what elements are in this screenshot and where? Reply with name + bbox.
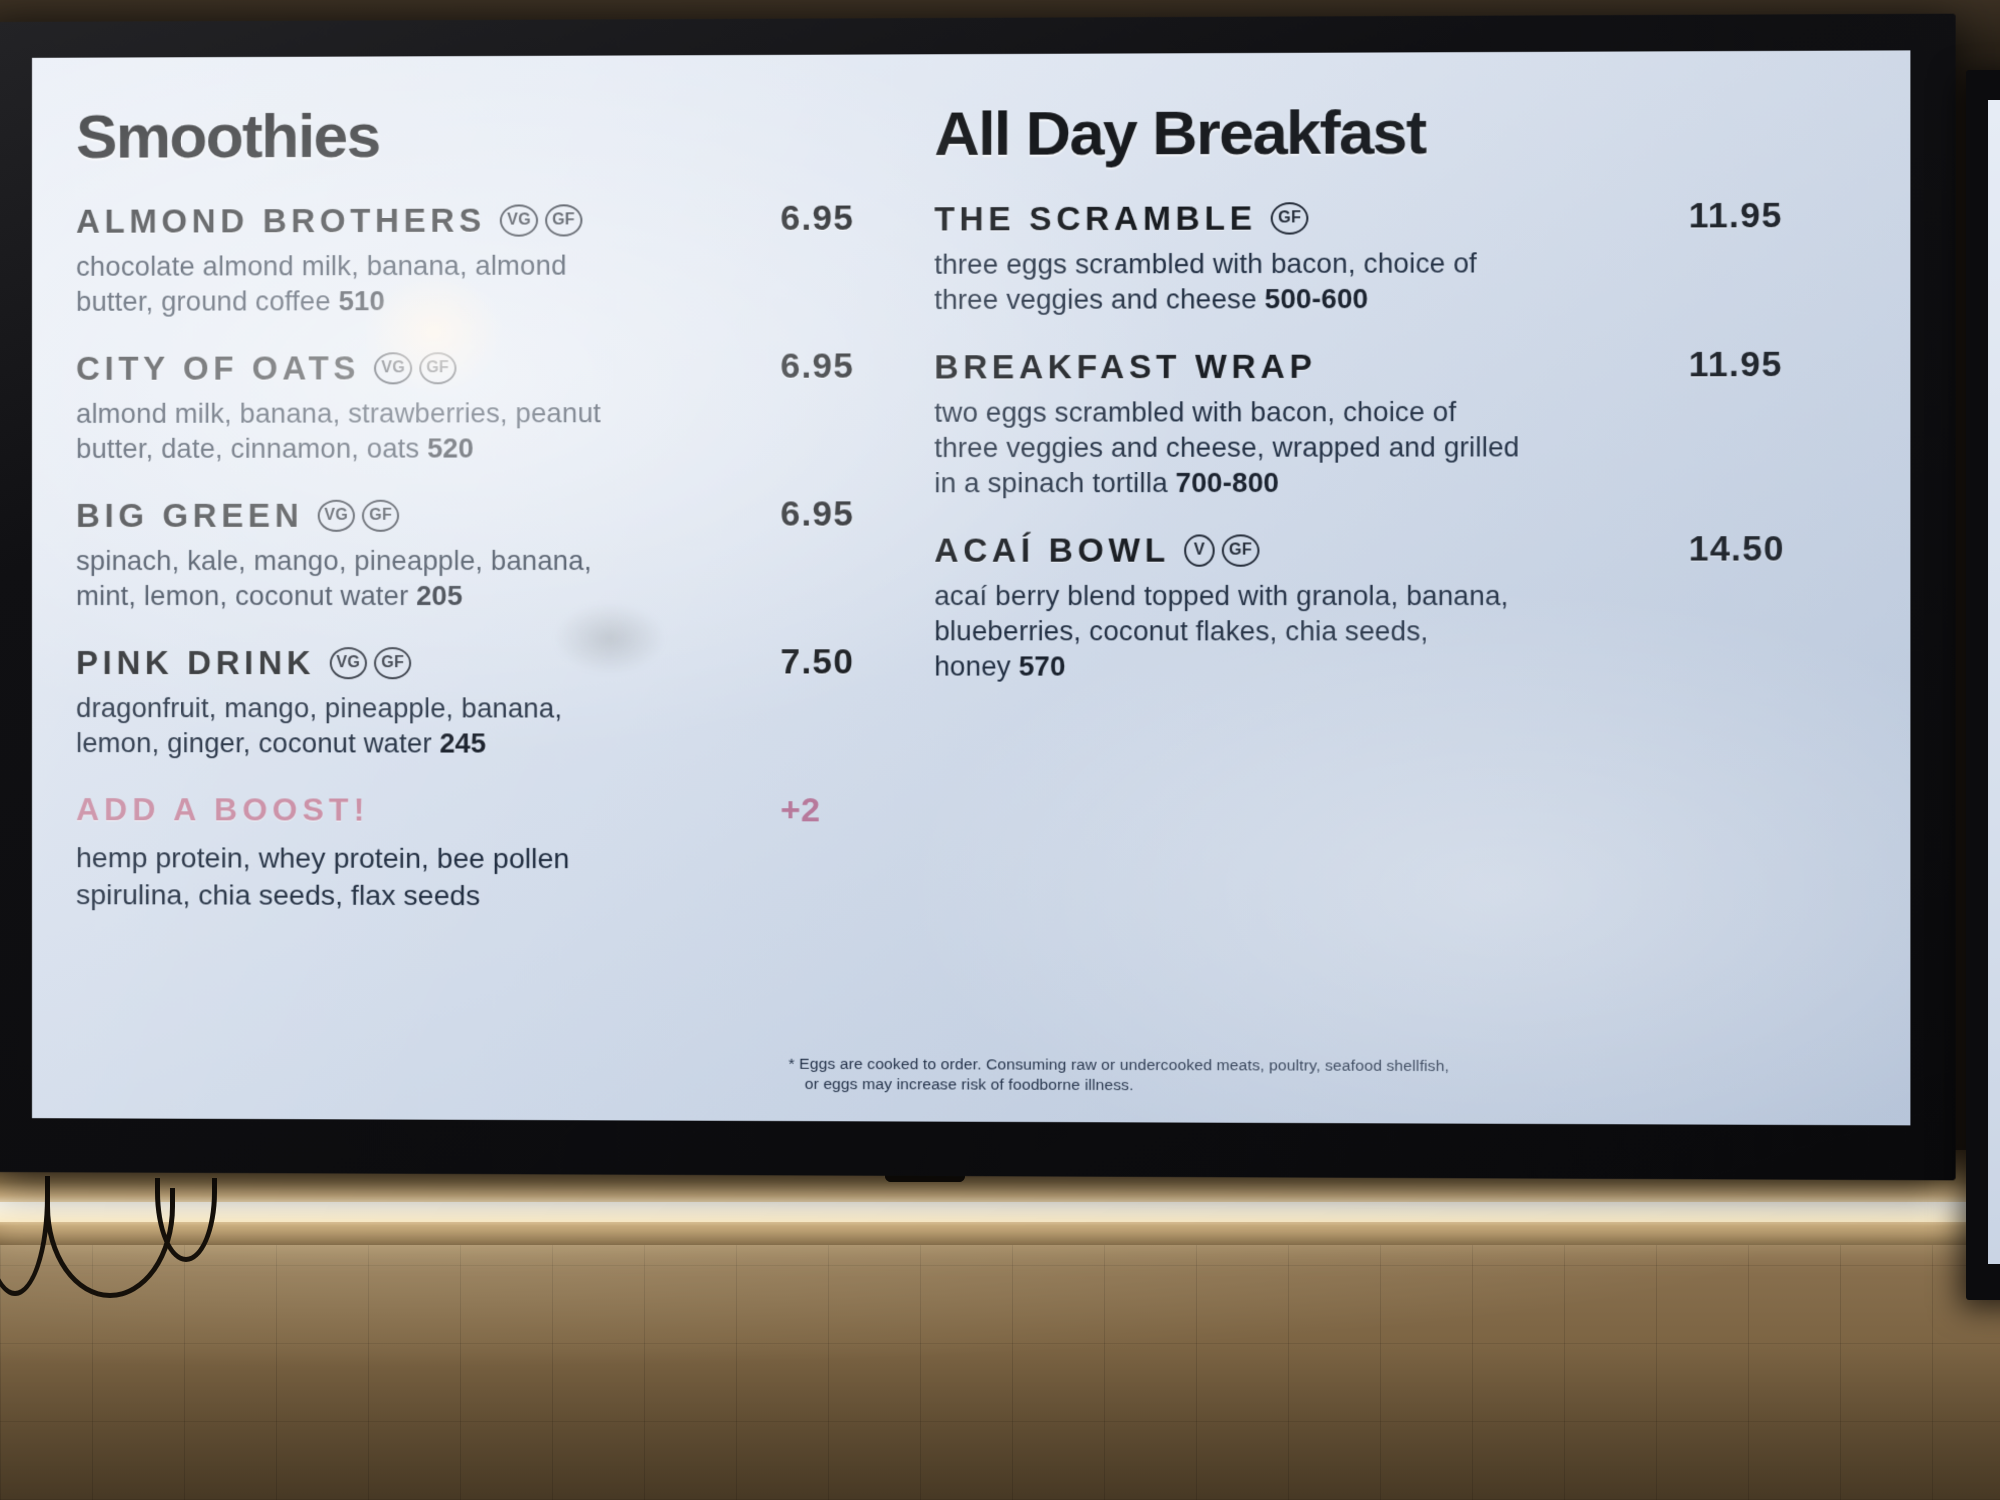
secondary-screen-surface bbox=[1988, 100, 2000, 1264]
calorie-count: 510 bbox=[338, 285, 384, 316]
desc-line: two eggs scrambled with bacon, choice of bbox=[934, 395, 1668, 431]
item-price: 6.95 bbox=[780, 346, 854, 386]
wall-shading bbox=[0, 1238, 2000, 1500]
desc-line: blueberries, coconut flakes, chia seeds, bbox=[934, 614, 1668, 649]
desc-line: chocolate almond milk, banana, almond bbox=[76, 248, 801, 285]
item-name: BIG GREEN bbox=[76, 497, 303, 535]
breakfast-title-wrap: All Day Breakfast bbox=[934, 99, 1853, 166]
calorie-count: 205 bbox=[416, 580, 462, 611]
item-description: spinach, kale, mango, pineapple, banana,… bbox=[76, 544, 801, 614]
add-a-boost-options: hemp protein, whey protein, bee pollen s… bbox=[76, 840, 924, 916]
item-price: 7.50 bbox=[780, 642, 854, 682]
desc-line: spinach, kale, mango, pineapple, banana, bbox=[76, 544, 801, 579]
tiled-wall bbox=[0, 1238, 2000, 1500]
calorie-count: 700-800 bbox=[1176, 467, 1279, 498]
item-name: ALMOND BROTHERS bbox=[76, 202, 486, 241]
item-description: acaí berry blend topped with granola, ba… bbox=[934, 579, 1668, 685]
diet-badges: V GF bbox=[1184, 534, 1259, 566]
add-a-boost-price: +2 bbox=[780, 791, 820, 830]
desc-line: almond milk, banana, strawberries, peanu… bbox=[76, 396, 801, 432]
menu-item[interactable]: ACAÍ BOWL V GF acaí berry blend topped w… bbox=[934, 531, 1853, 685]
title-underline-accent bbox=[936, 154, 1429, 165]
breakfast-column: All Day Breakfast THE SCRAMBLE GF three … bbox=[934, 99, 1853, 1090]
diet-badges: VG GF bbox=[374, 352, 456, 384]
led-light-strip bbox=[0, 1202, 2000, 1222]
diet-badges: GF bbox=[1271, 202, 1309, 234]
smoothies-column: Smoothies ALMOND BROTHERS VG GF choco bbox=[76, 103, 934, 1088]
calorie-count: 245 bbox=[440, 727, 486, 758]
breakfast-section-title: All Day Breakfast bbox=[934, 101, 1425, 166]
item-description: dragonfruit, mango, pineapple, banana, l… bbox=[76, 691, 801, 762]
desc-line-with-calories: three veggies and cheese 500-600 bbox=[934, 281, 1668, 318]
desc-line-with-calories: butter, ground coffee 510 bbox=[76, 283, 801, 320]
desc-line: three veggies and cheese bbox=[934, 283, 1264, 315]
gf-badge-icon: GF bbox=[419, 352, 456, 384]
item-name: PINK DRINK bbox=[76, 644, 315, 682]
item-price: 14.50 bbox=[1689, 529, 1785, 570]
item-price: 11.95 bbox=[1689, 196, 1783, 237]
item-name: CITY OF OATS bbox=[76, 349, 360, 388]
gf-badge-icon: GF bbox=[362, 500, 399, 532]
item-name: BREAKFAST WRAP bbox=[934, 348, 1316, 387]
desc-line-with-calories: mint, lemon, coconut water 205 bbox=[76, 579, 801, 614]
item-description: three eggs scrambled with bacon, choice … bbox=[934, 246, 1668, 318]
item-name: ACAÍ BOWL bbox=[934, 531, 1170, 569]
footnote-line: * Eggs are cooked to order. Consuming ra… bbox=[788, 1054, 1520, 1077]
desc-line-with-calories: honey 570 bbox=[934, 649, 1668, 685]
item-description: two eggs scrambled with bacon, choice of… bbox=[934, 395, 1668, 502]
menu-item[interactable]: BIG GREEN VG GF spinach, kale, mango, pi… bbox=[76, 496, 924, 614]
menu-display-screen: Smoothies ALMOND BROTHERS VG GF choco bbox=[0, 14, 1956, 1181]
desc-line-with-calories: in a spinach tortilla 700-800 bbox=[934, 465, 1668, 501]
v-badge-icon: V bbox=[1184, 534, 1215, 566]
desc-line: mint, lemon, coconut water bbox=[76, 580, 416, 611]
menu-screen-surface: Smoothies ALMOND BROTHERS VG GF choco bbox=[32, 50, 1910, 1125]
desc-line: butter, date, cinnamon, oats bbox=[76, 432, 427, 463]
gf-badge-icon: GF bbox=[374, 647, 411, 679]
vg-badge-icon: VG bbox=[374, 352, 412, 384]
photo-scene: Smoothies ALMOND BROTHERS VG GF choco bbox=[0, 0, 2000, 1500]
menu-item[interactable]: PINK DRINK VG GF dragonfruit, mango, pin… bbox=[76, 644, 924, 762]
secondary-display-screen bbox=[1966, 70, 2000, 1300]
gf-badge-icon: GF bbox=[1222, 534, 1260, 566]
menu-item[interactable]: ALMOND BROTHERS VG GF chocolate almond m… bbox=[76, 201, 924, 320]
desc-line-with-calories: butter, date, cinnamon, oats 520 bbox=[76, 431, 801, 467]
item-price: 11.95 bbox=[1689, 345, 1783, 386]
desc-line-with-calories: lemon, ginger, coconut water 245 bbox=[76, 726, 801, 762]
item-description: almond milk, banana, strawberries, peanu… bbox=[76, 396, 801, 467]
menu-item[interactable]: CITY OF OATS VG GF almond milk, banana, … bbox=[76, 348, 924, 466]
gf-badge-icon: GF bbox=[1271, 202, 1309, 234]
vg-badge-icon: VG bbox=[317, 500, 355, 532]
menu-board: Smoothies ALMOND BROTHERS VG GF choco bbox=[32, 50, 1910, 1125]
desc-line: acaí berry blend topped with granola, ba… bbox=[934, 579, 1668, 614]
diet-badges: VG GF bbox=[329, 647, 411, 679]
desc-line: dragonfruit, mango, pineapple, banana, bbox=[76, 691, 801, 727]
calorie-count: 500-600 bbox=[1265, 283, 1369, 315]
item-price: 6.95 bbox=[780, 494, 854, 534]
vg-badge-icon: VG bbox=[329, 647, 367, 679]
boost-option-line: hemp protein, whey protein, bee pollen bbox=[76, 840, 924, 879]
desc-line: three veggies and cheese, wrapped and gr… bbox=[934, 430, 1668, 466]
menu-item[interactable]: BREAKFAST WRAP two eggs scrambled with b… bbox=[934, 347, 1853, 501]
item-price: 6.95 bbox=[780, 199, 854, 239]
calorie-count: 570 bbox=[1019, 650, 1066, 681]
item-name: THE SCRAMBLE bbox=[934, 200, 1256, 239]
smoothies-section-title: Smoothies bbox=[76, 105, 380, 169]
allergen-footnote: * Eggs are cooked to order. Consuming ra… bbox=[788, 1054, 1520, 1097]
diet-badges: VG GF bbox=[500, 205, 582, 237]
desc-line: honey bbox=[934, 650, 1018, 681]
diet-badges: VG GF bbox=[317, 500, 399, 532]
add-a-boost-block[interactable]: ADD A BOOST! +2 hemp protein, whey prote… bbox=[76, 791, 924, 916]
boost-option-line: spirulina, chia seeds, flax seeds bbox=[76, 877, 924, 916]
calorie-count: 520 bbox=[427, 432, 473, 463]
menu-item[interactable]: THE SCRAMBLE GF three eggs scrambled wit… bbox=[934, 198, 1853, 318]
desc-line: in a spinach tortilla bbox=[934, 467, 1175, 498]
desc-line: three eggs scrambled with bacon, choice … bbox=[934, 246, 1668, 283]
title-underline-accent bbox=[78, 157, 384, 167]
vg-badge-icon: VG bbox=[500, 205, 538, 237]
desc-line: lemon, ginger, coconut water bbox=[76, 727, 439, 758]
item-description: chocolate almond milk, banana, almond bu… bbox=[76, 248, 801, 320]
gf-badge-icon: GF bbox=[545, 205, 582, 237]
footnote-line: or eggs may increase risk of foodborne i… bbox=[788, 1075, 1520, 1098]
smoothies-title-wrap: Smoothies bbox=[76, 103, 924, 169]
desc-line: butter, ground coffee bbox=[76, 285, 338, 317]
